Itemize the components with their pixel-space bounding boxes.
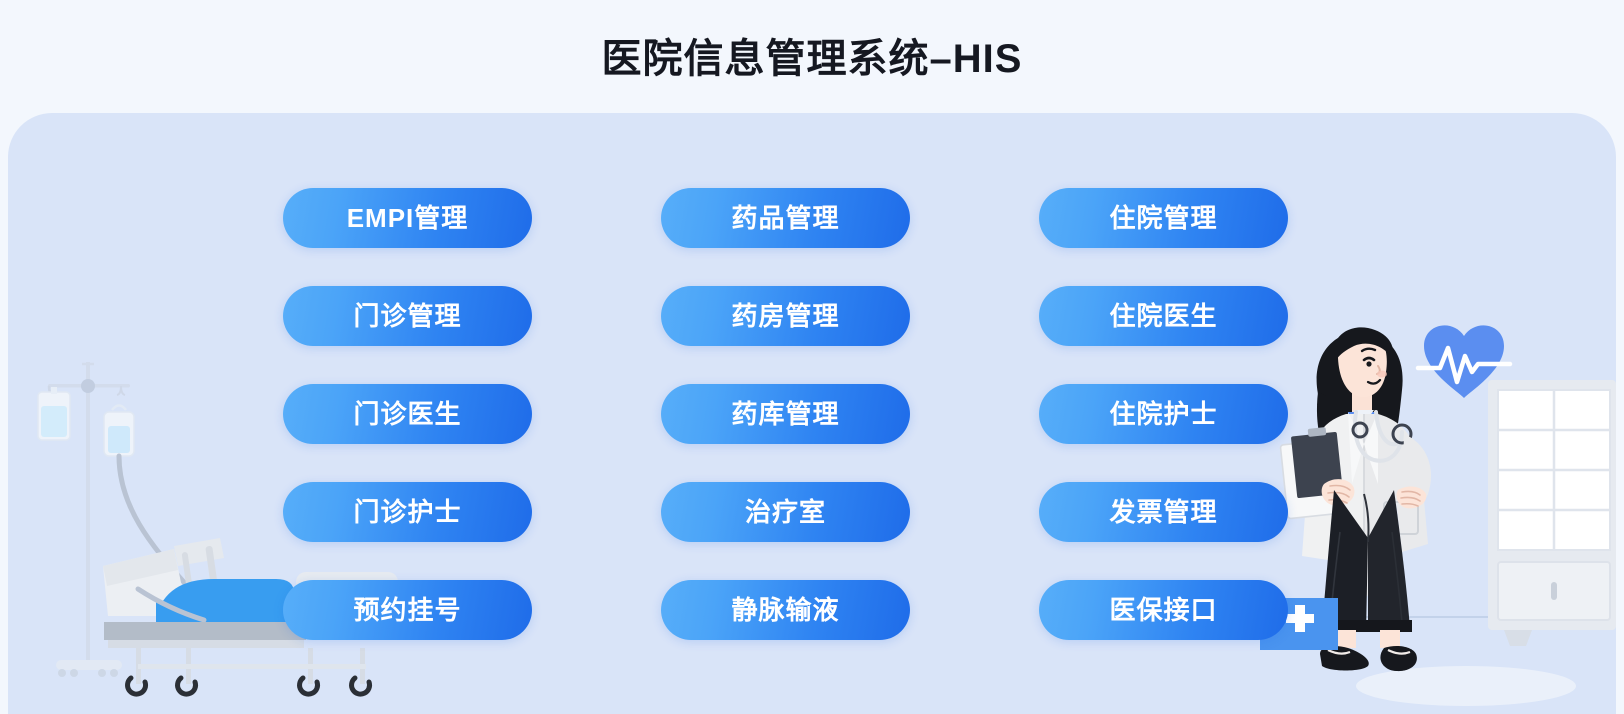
bed-caster-icon [128,678,370,694]
module-button-medical-insurance-interface[interactable]: 医保接口 [1039,580,1288,640]
module-button-pharmacy-management[interactable]: 药房管理 [661,286,910,346]
module-button-outpatient-management[interactable]: 门诊管理 [283,286,532,346]
main-panel: EMPI管理 药品管理 住院管理 门诊管理 药房管理 住院医生 门诊医生 药库管… [8,113,1616,714]
module-button-drug-management[interactable]: 药品管理 [661,188,910,248]
medical-cabinet-icon [1488,380,1616,646]
module-button-inpatient-nurse[interactable]: 住院护士 [1039,384,1288,444]
module-button-outpatient-doctor[interactable]: 门诊医生 [283,384,532,444]
module-button-outpatient-nurse[interactable]: 门诊护士 [283,482,532,542]
module-button-drug-warehouse-management[interactable]: 药库管理 [661,384,910,444]
iv-bag-icon [38,387,70,440]
doctor-illustration [1256,294,1616,714]
page-title: 医院信息管理系统–HIS [0,30,1624,88]
module-button-invoice-management[interactable]: 发票管理 [1039,482,1288,542]
module-button-treatment-room[interactable]: 治疗室 [661,482,910,542]
module-button-appointment-registration[interactable]: 预约挂号 [283,580,532,640]
module-button-inpatient-doctor[interactable]: 住院医生 [1039,286,1288,346]
module-button-grid: EMPI管理 药品管理 住院管理 门诊管理 药房管理 住院医生 门诊医生 药库管… [283,188,1297,640]
module-button-intravenous-infusion[interactable]: 静脉输液 [661,580,910,640]
module-button-empi-management[interactable]: EMPI管理 [283,188,532,248]
module-button-inpatient-management[interactable]: 住院管理 [1039,188,1288,248]
